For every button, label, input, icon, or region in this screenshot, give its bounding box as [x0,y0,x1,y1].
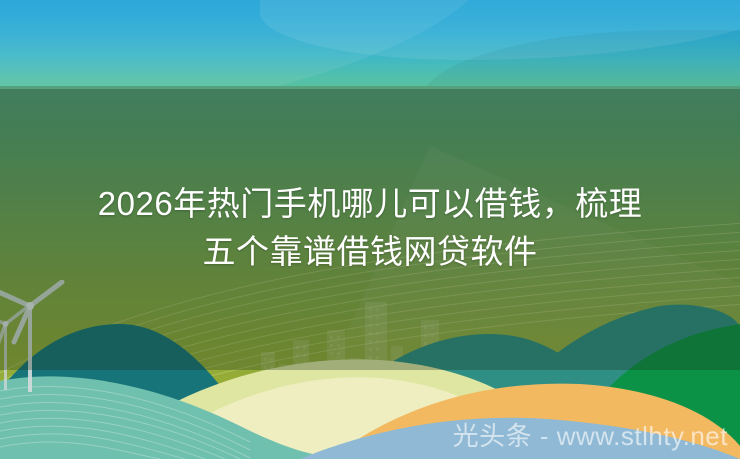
title-line-2: 五个靠谱借钱网贷软件 [0,228,740,276]
banner-image: 2026年热门手机哪儿可以借钱，梳理 五个靠谱借钱网贷软件 光头条 - www.… [0,0,740,459]
site-watermark: 光头条 - www.stlhty.net [453,421,728,451]
banner-title: 2026年热门手机哪儿可以借钱，梳理 五个靠谱借钱网贷软件 [0,180,740,276]
title-line-1: 2026年热门手机哪儿可以借钱，梳理 [0,180,740,228]
